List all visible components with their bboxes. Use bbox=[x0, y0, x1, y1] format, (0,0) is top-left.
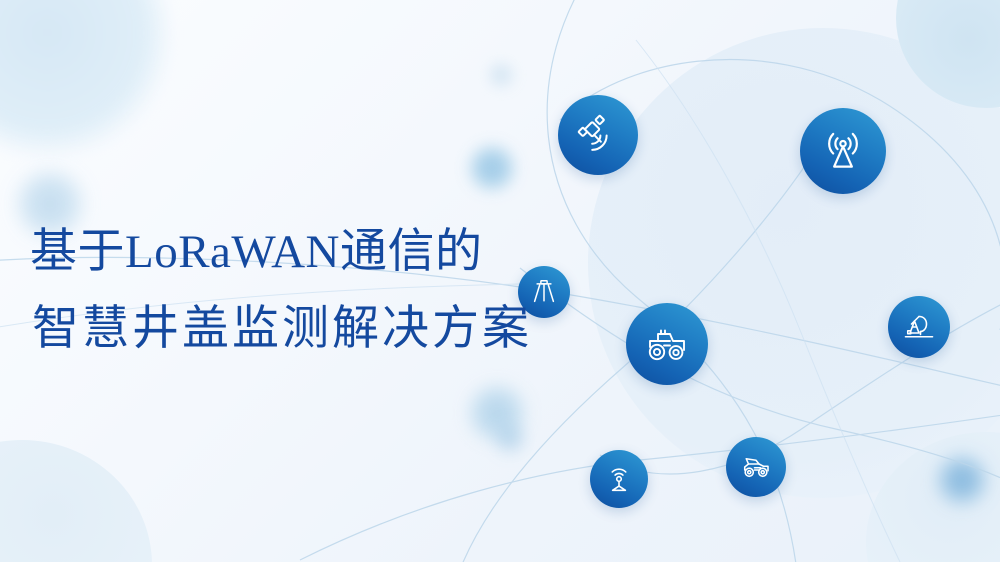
node-loader-vehicle[interactable] bbox=[726, 437, 786, 497]
radio-tower-icon bbox=[818, 126, 868, 176]
background-blob-top-left bbox=[0, 0, 172, 158]
title-slide: 基于LoRaWAN通信的 智慧井盖监测解决方案 bbox=[0, 0, 1000, 562]
background-blob-bottom-right bbox=[866, 432, 1000, 562]
background-dot-d bbox=[484, 58, 518, 92]
background-blob-bottom-left bbox=[0, 440, 152, 562]
satellite-icon bbox=[575, 112, 621, 158]
survey-tripod-icon bbox=[529, 277, 559, 307]
title-line-2: 智慧井盖监测解决方案 bbox=[32, 303, 532, 352]
node-sensor-beacon[interactable] bbox=[590, 450, 648, 508]
loader-vehicle-icon bbox=[738, 449, 774, 485]
node-radio-tower[interactable] bbox=[800, 108, 886, 194]
node-satellite[interactable] bbox=[558, 95, 638, 175]
background-dot-a bbox=[466, 142, 518, 194]
background-blob-top-right bbox=[896, 0, 1000, 108]
page-title: 基于LoRaWAN通信的 智慧井盖监测解决方案 bbox=[30, 228, 532, 352]
background-dot-f bbox=[490, 418, 530, 458]
tractor-icon bbox=[643, 320, 691, 368]
oil-pumpjack-icon bbox=[901, 309, 937, 345]
background-sphere-right bbox=[588, 28, 1000, 498]
title-line-1: 基于LoRaWAN通信的 bbox=[30, 228, 532, 277]
node-tractor[interactable] bbox=[626, 303, 708, 385]
background-dot-b bbox=[466, 382, 528, 444]
background-dot-e bbox=[934, 452, 990, 508]
sensor-beacon-icon bbox=[602, 462, 636, 496]
node-oil-pumpjack[interactable] bbox=[888, 296, 950, 358]
